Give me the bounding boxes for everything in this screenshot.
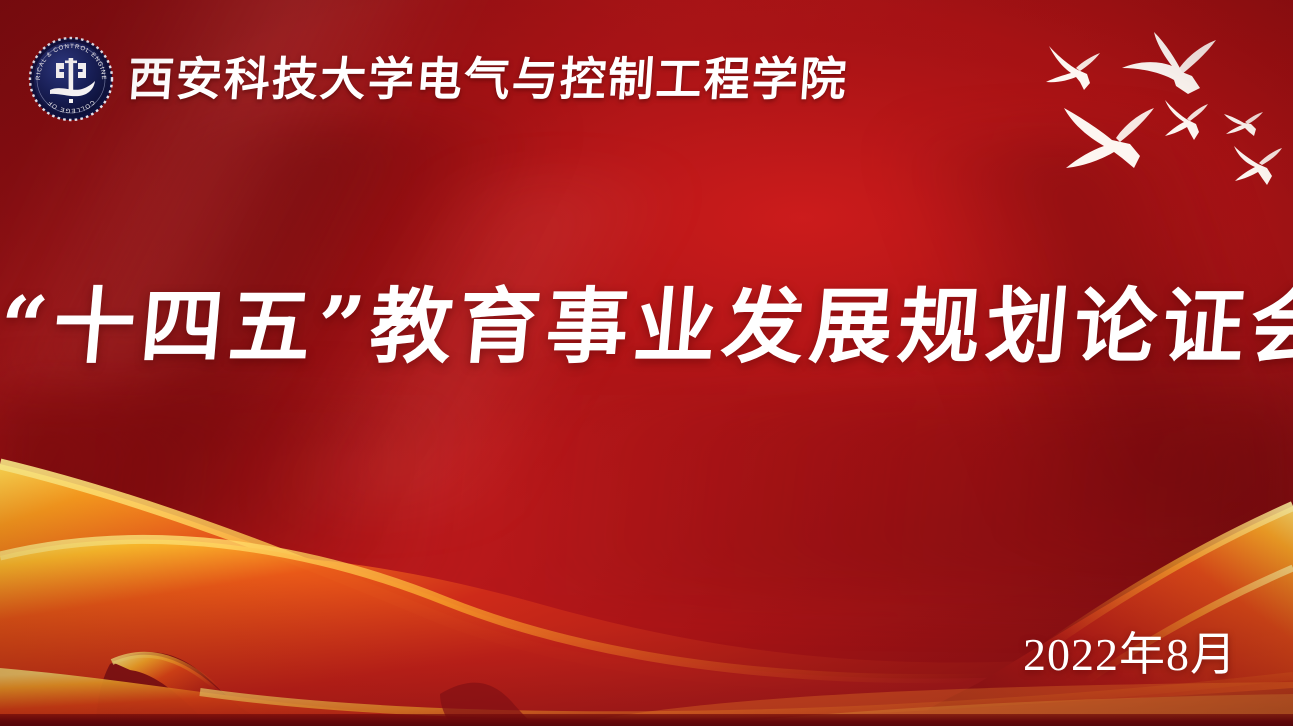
ribbon-decoration [0, 436, 1293, 726]
bottom-edge-strip [0, 714, 1293, 726]
presentation-slide: ELECTRICAL & CONTROL ENGINEERING COLLEGE… [0, 0, 1293, 726]
dove-icon [1060, 96, 1172, 182]
dove-icon [1230, 142, 1290, 188]
dove-icon [1160, 96, 1218, 146]
slide-title: “十四五”教育事业发展规划论证会 [0, 283, 1293, 372]
dove-icon [1040, 38, 1120, 100]
organization-name: 西安科技大学电气与控制工程学院 [126, 56, 849, 102]
college-seal-logo: ELECTRICAL & CONTROL ENGINEERING COLLEGE… [28, 36, 114, 122]
date-label: 2022年8月 [1023, 632, 1237, 678]
dove-icon [1222, 108, 1268, 140]
header: ELECTRICAL & CONTROL ENGINEERING COLLEGE… [28, 36, 848, 122]
